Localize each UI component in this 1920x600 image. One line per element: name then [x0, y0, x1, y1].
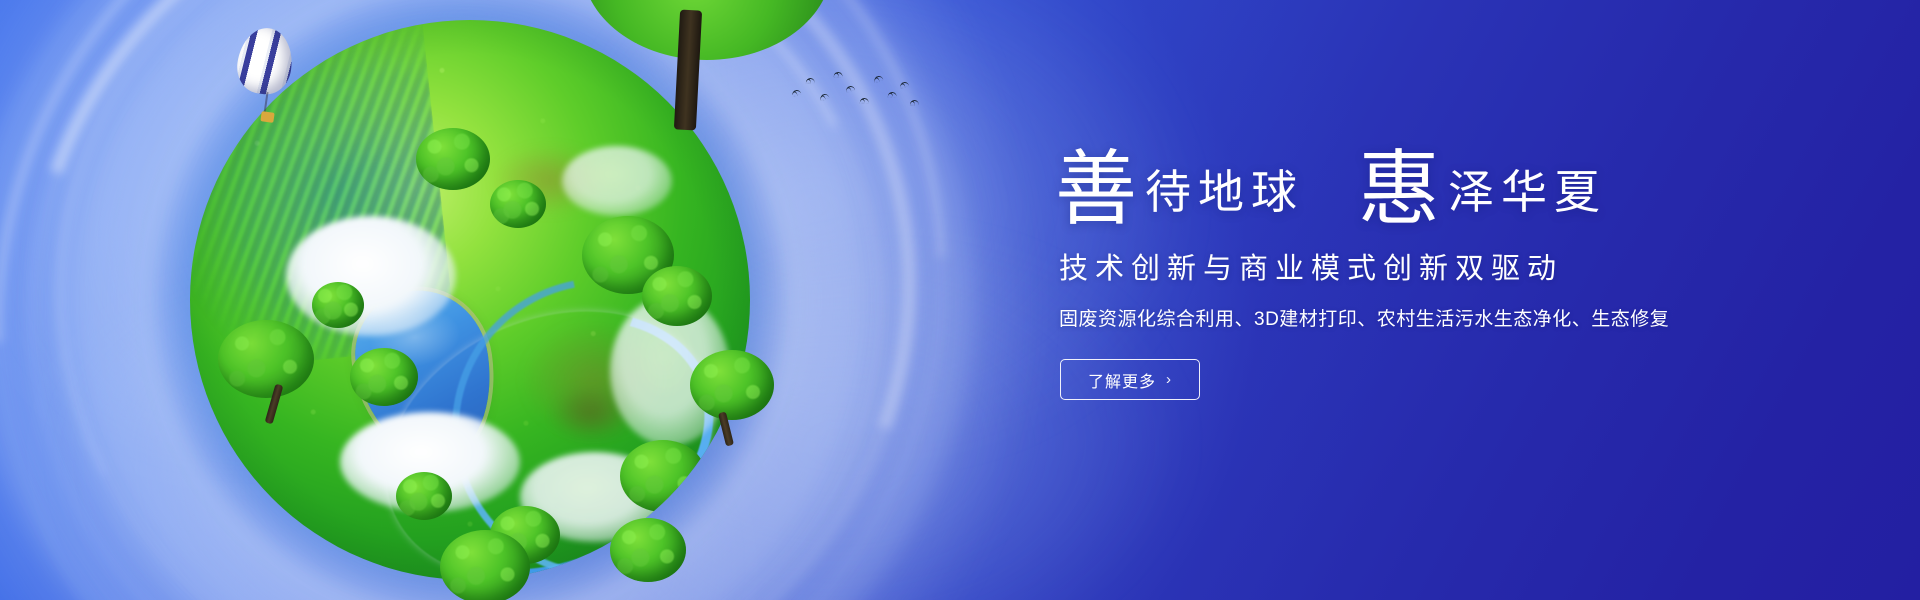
headline-lead-2: 惠: [1358, 152, 1440, 227]
chevron-right-icon: ›: [1166, 372, 1172, 387]
tree-canopy-icon: [610, 518, 686, 582]
surface-cloud-icon: [286, 216, 456, 336]
learn-more-label: 了解更多: [1088, 368, 1156, 392]
hot-air-balloon-icon: [238, 28, 292, 124]
tree-canopy-icon: [312, 282, 364, 328]
headline-rest-2: 泽华夏: [1440, 169, 1607, 215]
balloon-envelope: [234, 25, 297, 98]
tree-canopy-icon: [396, 472, 452, 520]
tree-canopy-icon: [416, 128, 490, 190]
tree-canopy-icon: [620, 440, 706, 512]
tree-canopy-icon: [350, 348, 418, 406]
hero-tree-canopy-icon: [582, 0, 832, 60]
page-title: 善 待地球 惠 泽华夏: [1055, 146, 1755, 221]
learn-more-button[interactable]: 了解更多 ›: [1060, 359, 1200, 400]
surface-cloud-icon: [562, 146, 672, 216]
hero-banner: 善 待地球 惠 泽华夏 技术创新与商业模式创新双驱动 固废资源化综合利用、3D建…: [0, 0, 1920, 600]
birds-icon: [790, 64, 920, 114]
tree-canopy-icon: [642, 266, 712, 326]
tree-canopy-icon: [440, 530, 530, 600]
hero-copy: 善 待地球 惠 泽华夏 技术创新与商业模式创新双驱动 固废资源化综合利用、3D建…: [1055, 146, 1755, 400]
headline-lead-1: 善: [1055, 152, 1137, 227]
tree-canopy-icon: [490, 180, 546, 228]
page-description: 固废资源化综合利用、3D建材打印、农村生活污水生态净化、生态修复: [1059, 304, 1755, 331]
page-subtitle: 技术创新与商业模式创新双驱动: [1059, 245, 1755, 287]
tree-canopy-icon: [690, 350, 774, 420]
tree-canopy-icon: [218, 320, 314, 398]
headline-rest-1: 待地球: [1137, 169, 1304, 215]
balloon-basket: [260, 111, 274, 123]
